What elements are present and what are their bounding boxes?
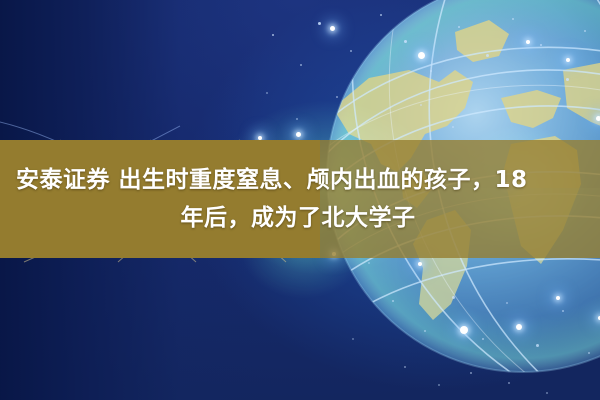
banner-image: 安泰证券 出生时重度窒息、颅内出血的孩子，18 年后，成为了北大学子	[0, 0, 600, 400]
headline-line-1: 安泰证券 出生时重度窒息、颅内出血的孩子，18	[16, 161, 584, 199]
headline-line-2: 年后，成为了北大学子	[16, 199, 584, 237]
headline-block: 安泰证券 出生时重度窒息、颅内出血的孩子，18 年后，成为了北大学子	[0, 140, 600, 258]
